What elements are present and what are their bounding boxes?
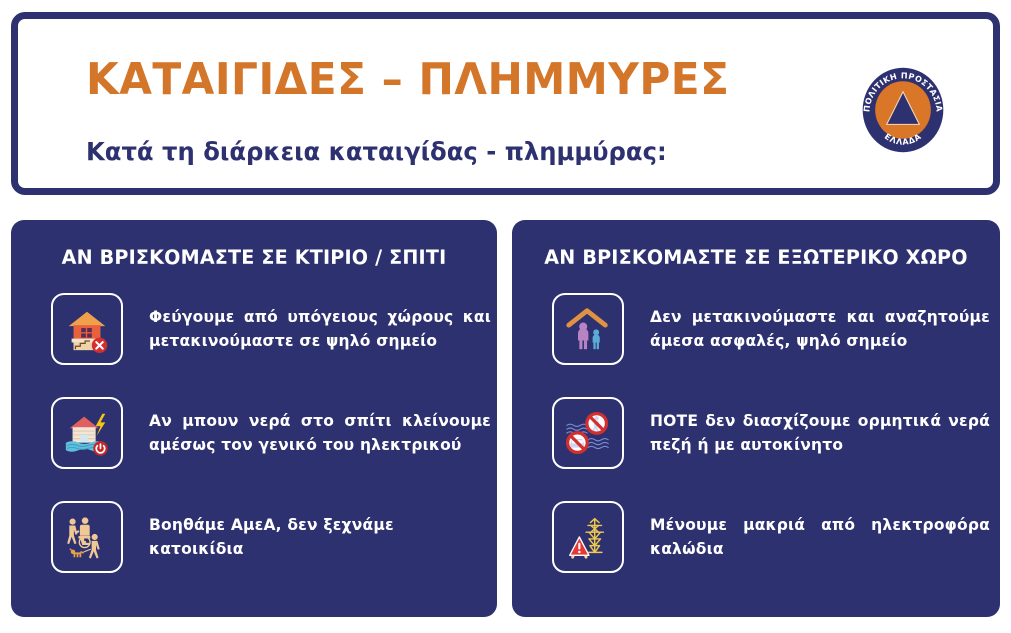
page-title: ΚΑΤΑΙΓΙΔΕΣ – ΠΛΗΜΜΥΡΕΣ — [86, 54, 729, 105]
advice-list-indoors: Φεύγουμε από υπόγειους χώρους και μετακι… — [11, 291, 497, 575]
civil-protection-greece-logo: ΠΟΛΙΤΙΚΗ ΠΡΟΣΤΑΣΙΑ ΕΛΛΑΔΑ — [855, 62, 951, 158]
list-item-label: Αν μπουν νερά στο σπίτι κλείνουμε αμέσως… — [149, 409, 491, 457]
list-item: Αν μπουν νερά στο σπίτι κλείνουμε αμέσως… — [51, 395, 491, 471]
list-item-label: Δεν μετακινούμαστε και αναζητούμε άμεσα … — [650, 305, 990, 353]
panel-title-indoors: ΑΝ ΒΡΙΣΚΟΜΑΣΤΕ ΣΕ ΚΤΙΡΙΟ / ΣΠΙΤΙ — [16, 246, 492, 269]
panel-indoors: ΑΝ ΒΡΙΣΚΟΜΑΣΤΕ ΣΕ ΚΤΙΡΙΟ / ΣΠΙΤΙ Φεύγουμ… — [11, 220, 497, 617]
list-item: Βοηθάμε ΑμεΑ, δεν ξεχνάμε κατοικίδια — [51, 499, 491, 575]
advice-list-outdoors: Δεν μετακινούμαστε και αναζητούμε άμεσα … — [512, 291, 1000, 575]
header-banner: ΚΑΤΑΙΓΙΔΕΣ – ΠΛΗΜΜΥΡΕΣ Κατά τη διάρκεια … — [11, 12, 1000, 195]
list-item: Φεύγουμε από υπόγειους χώρους και μετακι… — [51, 291, 491, 367]
list-item: Μένουμε μακριά από ηλεκτροφόρα καλώδια — [552, 499, 994, 575]
flooded-house-power-off-icon — [51, 397, 123, 469]
shelter-family-icon — [552, 293, 624, 365]
list-item-label: Βοηθάμε ΑμεΑ, δεν ξεχνάμε κατοικίδια — [149, 513, 491, 561]
power-lines-warning-icon — [552, 501, 624, 573]
list-item-label: Φεύγουμε από υπόγειους χώρους και μετακι… — [149, 305, 491, 353]
panel-outdoors: ΑΝ ΒΡΙΣΚΟΜΑΣΤΕ ΣΕ ΕΞΩΤΕΡΙΚΟ ΧΩΡΟ — [512, 220, 1000, 617]
list-item-label: Μένουμε μακριά από ηλεκτροφόρα καλώδια — [650, 513, 990, 561]
list-item: Δεν μετακινούμαστε και αναζητούμε άμεσα … — [552, 291, 994, 367]
no-crossing-floodwater-icon — [552, 397, 624, 469]
house-basement-prohibited-icon — [51, 293, 123, 365]
list-item-label: ΠΟΤΕ δεν διασχίζουμε ορμητικά νερά πεζή … — [650, 409, 990, 457]
list-item: ΠΟΤΕ δεν διασχίζουμε ορμητικά νερά πεζή … — [552, 395, 994, 471]
panel-title-outdoors: ΑΝ ΒΡΙΣΚΟΜΑΣΤΕ ΣΕ ΕΞΩΤΕΡΙΚΟ ΧΩΡΟ — [517, 246, 995, 269]
page-subtitle: Κατά τη διάρκεια καταιγίδας - πλημμύρας: — [86, 137, 667, 166]
assist-disabled-pets-icon — [51, 501, 123, 573]
